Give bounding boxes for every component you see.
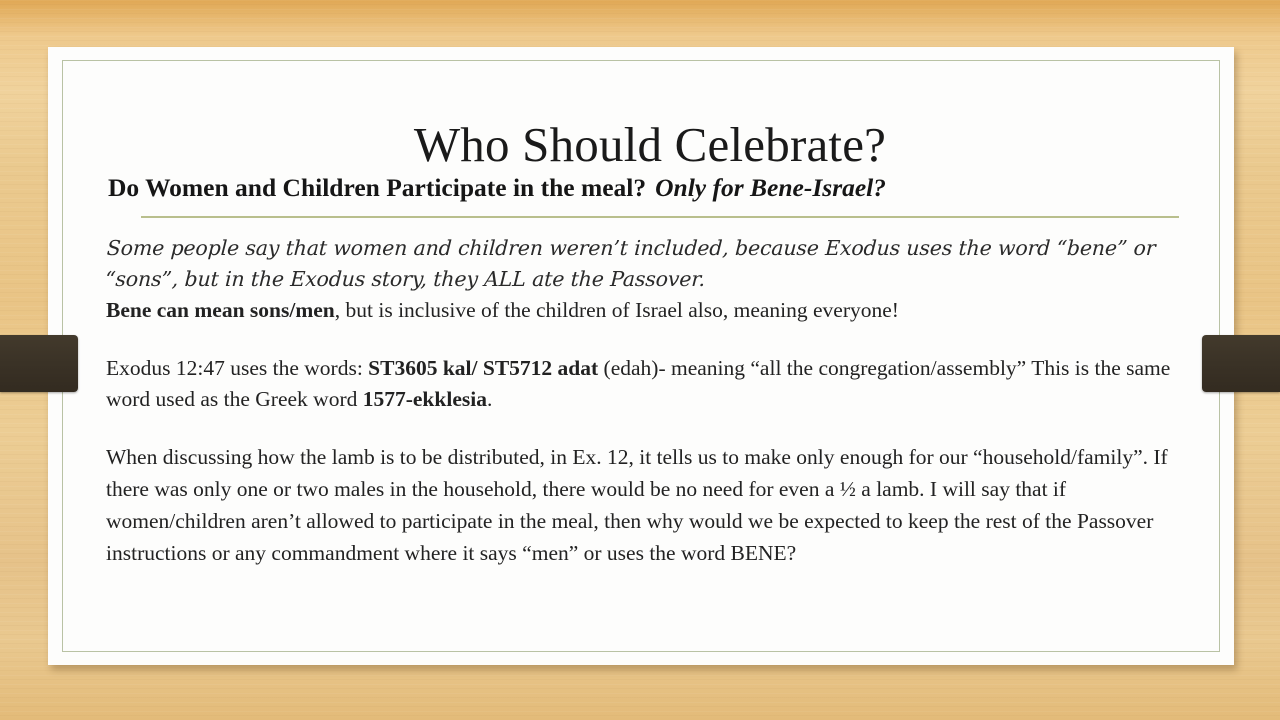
title-divider-rule: [141, 216, 1179, 218]
slide-backdrop: Who Should Celebrate? Do Women and Child…: [0, 0, 1280, 720]
exodus-end-punctuation: .: [487, 387, 492, 411]
presentation-slide: Who Should Celebrate? Do Women and Child…: [48, 47, 1234, 665]
paragraph-script-intro: Some people say that women and children …: [104, 233, 1195, 295]
ekklesia-bold: 1577-ekklesia: [363, 387, 487, 411]
slide-subtitle: Do Women and Children Participate in the…: [106, 173, 1194, 203]
right-decorative-bar: [1202, 335, 1280, 392]
slide-subtitle-emphasis: Only for Bene-Israel?: [646, 173, 886, 202]
paragraph-bene-meaning: Bene can mean sons/men, but is inclusive…: [106, 295, 1194, 326]
exodus-lead-text: Exodus 12:47 uses the words:: [106, 356, 368, 380]
bene-bold-lead: Bene can mean sons/men: [106, 298, 335, 322]
slide-body: Some people say that women and children …: [106, 233, 1194, 569]
left-decorative-bar: [0, 335, 78, 392]
paragraph-lamb-distribution: When discussing how the lamb is to be di…: [106, 441, 1194, 569]
strongs-numbers-bold: ST3605 kal/ ST5712 adat: [368, 356, 598, 380]
paragraph-exodus-reference: Exodus 12:47 uses the words: ST3605 kal/…: [106, 353, 1194, 415]
slide-title: Who Should Celebrate?: [106, 119, 1194, 171]
bene-rest-text: , but is inclusive of the children of Is…: [335, 298, 899, 322]
slide-subtitle-main: Do Women and Children Participate in the…: [108, 173, 646, 202]
slide-content: Who Should Celebrate? Do Women and Child…: [106, 119, 1194, 569]
